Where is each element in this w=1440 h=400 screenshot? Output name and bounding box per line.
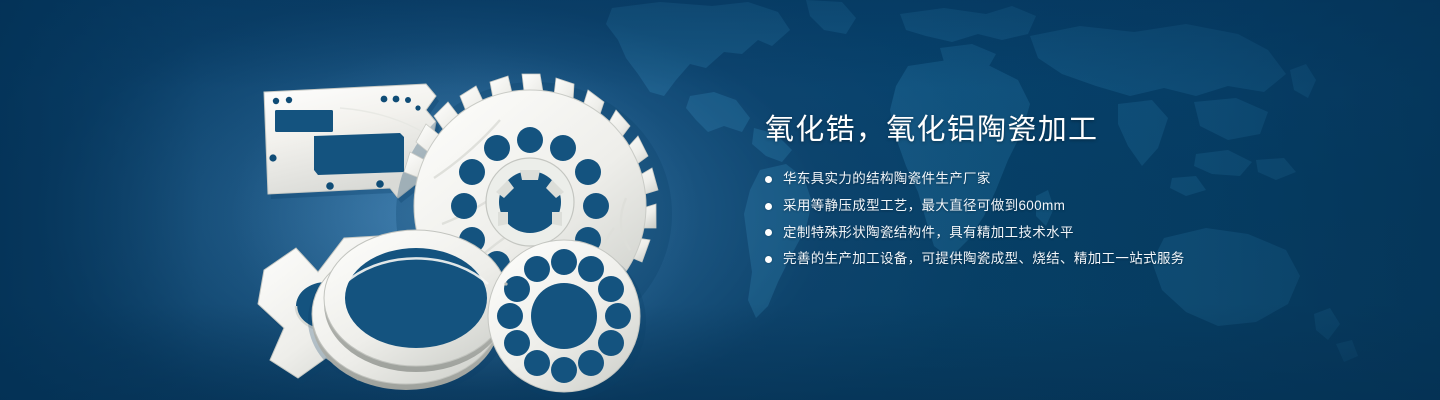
feature-text: 完善的生产加工设备，可提供陶瓷成型、烧结、精加工一站式服务 bbox=[783, 250, 1185, 268]
bullet-dot-icon bbox=[765, 176, 772, 183]
banner-copy: 氧化锆，氧化铝陶瓷加工 华东具实力的结构陶瓷件生产厂家 采用等静压成型工艺，最大… bbox=[765, 112, 1365, 277]
feature-text: 定制特殊形状陶瓷结构件，具有精加工技术水平 bbox=[783, 224, 1074, 242]
list-item: 华东具实力的结构陶瓷件生产厂家 bbox=[765, 170, 1365, 188]
list-item: 采用等静压成型工艺，最大直径可做到600mm bbox=[765, 197, 1365, 215]
feature-text: 华东具实力的结构陶瓷件生产厂家 bbox=[783, 170, 991, 188]
bullet-dot-icon bbox=[765, 203, 772, 210]
bullet-dot-icon bbox=[765, 256, 772, 263]
product-banner: 氧化锆，氧化铝陶瓷加工 华东具实力的结构陶瓷件生产厂家 采用等静压成型工艺，最大… bbox=[0, 0, 1440, 400]
feature-list: 华东具实力的结构陶瓷件生产厂家 采用等静压成型工艺，最大直径可做到600mm 定… bbox=[765, 170, 1365, 268]
banner-headline: 氧化锆，氧化铝陶瓷加工 bbox=[765, 112, 1365, 148]
feature-text: 采用等静压成型工艺，最大直径可做到600mm bbox=[783, 197, 1065, 215]
list-item: 完善的生产加工设备，可提供陶瓷成型、烧结、精加工一站式服务 bbox=[765, 250, 1365, 268]
ceramic-products-image bbox=[240, 48, 690, 383]
bullet-dot-icon bbox=[765, 229, 772, 236]
list-item: 定制特殊形状陶瓷结构件，具有精加工技术水平 bbox=[765, 224, 1365, 242]
